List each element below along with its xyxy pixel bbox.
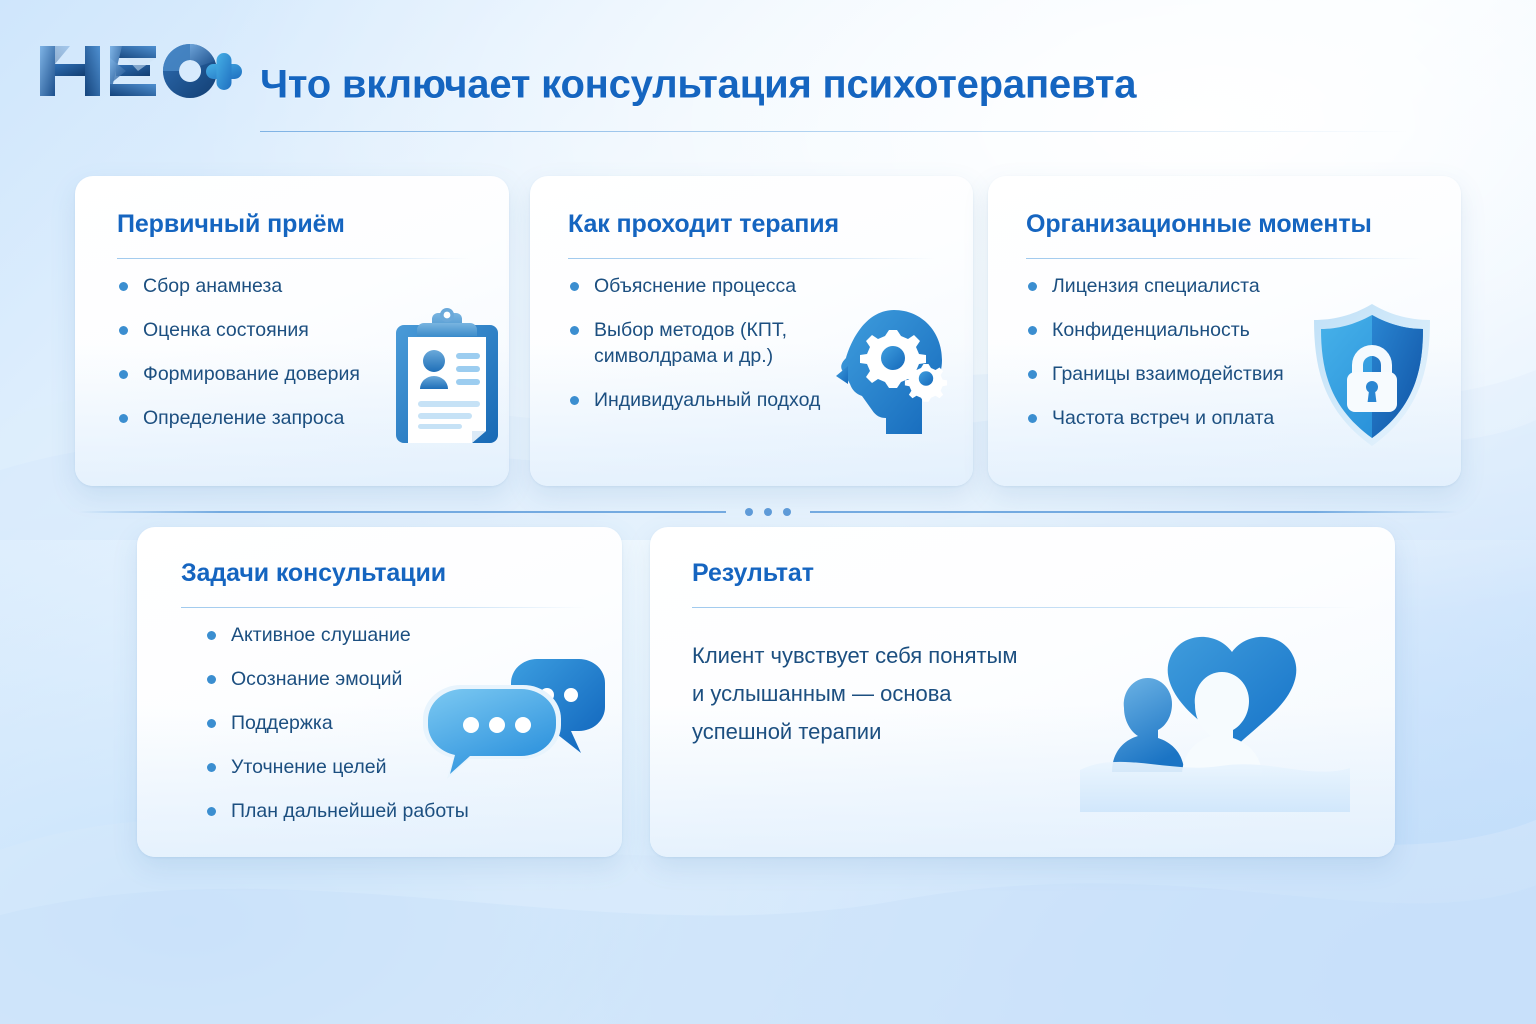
list-item: Выбор методов (КПТ, символдрама и др.) [568,318,848,370]
card-title-divider [181,607,586,608]
bullet-dot [207,719,216,728]
clipboard-id-card-icon [388,303,506,448]
page-title: Что включает консультация психотерапевта [260,63,1136,108]
list-item: Объяснение процесса [568,274,848,300]
divider-dot [745,508,753,516]
bullet-dot [1028,414,1037,423]
result-body-text: Клиент чувствует себя понятым и услышанн… [692,637,1112,750]
bullet-dot [207,675,216,684]
divider-dot [764,508,772,516]
list-item-label: Оценка состояния [143,319,309,341]
card-consultation-tasks[interactable]: Задачи консультации Активное слушание Ос… [137,527,622,857]
list-item-label: Частота встреч и оплата [1052,407,1274,429]
list-item-label: Границы взаимодействия [1052,363,1284,385]
heart-people-icon [1080,622,1350,812]
bullet-dot [570,282,579,291]
list-item-label: Индивидуальный подход [594,389,820,411]
neo-plus-logo [38,40,243,102]
bullet-dot [1028,370,1037,379]
list-item: Частота встреч и оплата [1026,406,1326,432]
bullet-list: Объяснение процесса Выбор методов (КПТ, … [568,274,848,432]
list-item-label: Формирование доверия [143,363,360,385]
bullet-dot [1028,326,1037,335]
card-title-divider [568,258,935,259]
list-item: Сбор анамнеза [117,274,447,300]
divider-dot [783,508,791,516]
bullet-dot [207,763,216,772]
card-title: Первичный приём [117,210,345,239]
list-item-label: Определение запроса [143,407,344,429]
bullet-dot [1028,282,1037,291]
bullet-dot [570,326,579,335]
speech-bubbles-icon [419,645,609,795]
bullet-dot [119,370,128,379]
card-title: Задачи консультации [181,559,446,588]
card-organizational[interactable]: Организационные моменты Лицензия специал… [988,176,1461,486]
bullet-dot [207,631,216,640]
shield-lock-icon [1306,301,1438,451]
list-item-label: Сбор анамнеза [143,275,282,297]
list-item-label: Конфиденциальность [1052,319,1250,341]
card-result[interactable]: Результат Клиент чувствует себя понятым … [650,527,1395,857]
card-primary-intake[interactable]: Первичный приём Сбор анамнеза Оценка сос… [75,176,509,486]
list-item-label: Поддержка [231,712,333,734]
list-item: План дальнейшей работы [205,799,505,825]
divider-line-left [78,511,726,513]
list-item-label: Лицензия специалиста [1052,275,1260,297]
bullet-dot [119,414,128,423]
bullet-dot [119,326,128,335]
divider-dots [745,506,791,518]
list-item: Конфиденциальность [1026,318,1326,344]
bullet-list: Лицензия специалиста Конфиденциальность … [1026,274,1326,450]
list-item-label: Выбор методов (КПТ, символдрама и др.) [594,319,787,367]
head-with-gears-icon [830,306,952,446]
section-divider [78,506,1458,518]
list-item-label: Объяснение процесса [594,275,796,297]
card-title: Результат [692,559,814,588]
bullet-dot [119,282,128,291]
card-title: Организационные моменты [1026,210,1372,239]
card-title-divider [1026,258,1423,259]
page-background: Что включает консультация психотерапевта… [0,0,1536,1024]
list-item-label: Осознание эмоций [231,668,402,690]
list-item-label: План дальнейшей работы [231,800,469,822]
card-how-therapy-goes[interactable]: Как проходит терапия Объяснение процесса… [530,176,973,486]
list-item: Индивидуальный подход [568,388,848,414]
card-title-divider [692,607,1355,608]
list-item-label: Уточнение целей [231,756,386,778]
list-item-label: Активное слушание [231,624,411,646]
page-header: Что включает консультация психотерапевта [38,34,1498,138]
list-item: Лицензия специалиста [1026,274,1326,300]
list-item: Границы взаимодействия [1026,362,1326,388]
divider-line-right [810,511,1458,513]
header-divider [260,131,1408,132]
bullet-dot [570,396,579,405]
card-title: Как проходит терапия [568,210,839,239]
bullet-dot [207,807,216,816]
card-title-divider [117,258,471,259]
